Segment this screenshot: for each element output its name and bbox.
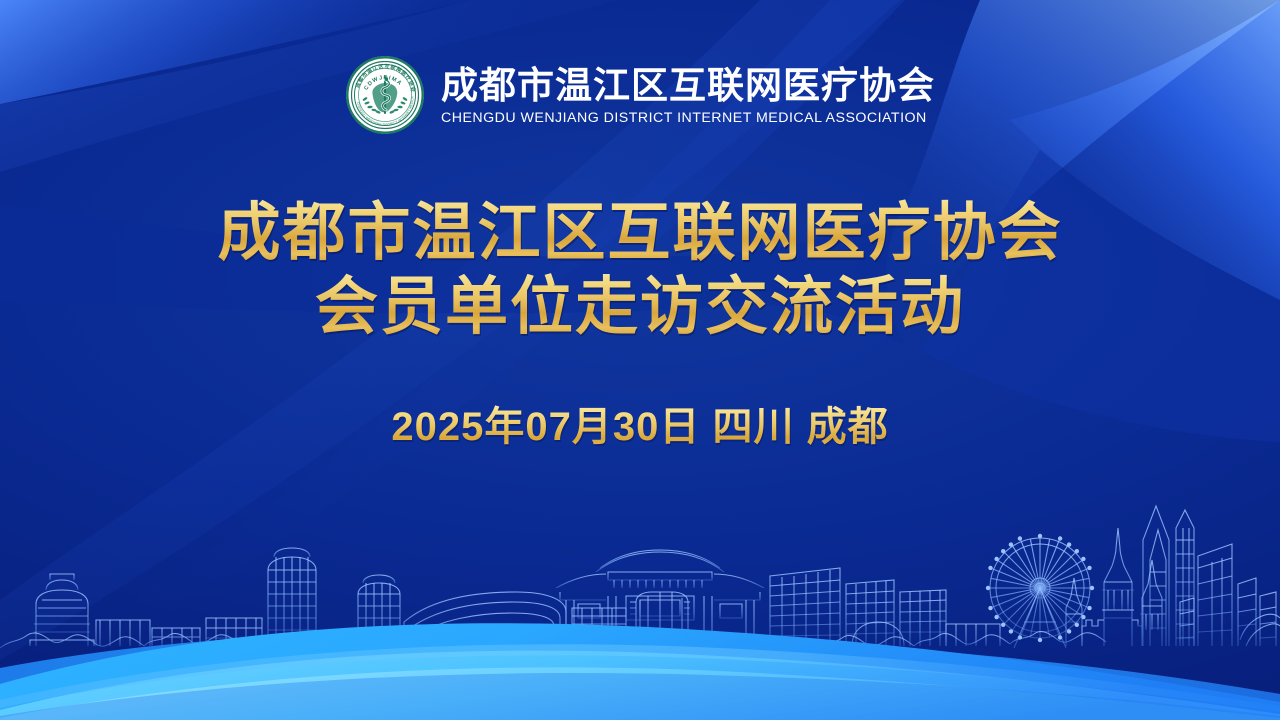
date-location-text: 2025年07月30日 四川 成都 — [391, 402, 888, 452]
org-name-en: CHENGDU WENJIANG DISTRICT INTERNET MEDIC… — [441, 110, 935, 126]
org-name-cn: 成都市温江区互联网医疗协会 — [441, 67, 935, 104]
event-date-location: 2025年07月30日 四川 成都 — [0, 402, 1280, 452]
association-emblem-icon: 成都市温江区互联网医疗协会 CDWJDIMA CHENGDU WENJIANG … — [345, 55, 425, 135]
poster-title: 成都市温江区互联网医疗协会 会员单位走访交流活动 — [0, 196, 1280, 344]
title-line-1: 成都市温江区互联网医疗协会 — [0, 196, 1280, 270]
event-poster: 成都市温江区互联网医疗协会 CDWJDIMA CHENGDU WENJIANG … — [0, 0, 1280, 720]
organization-logo-block: 成都市温江区互联网医疗协会 CDWJDIMA CHENGDU WENJIANG … — [0, 55, 1280, 135]
title-line-2: 会员单位走访交流活动 — [0, 270, 1280, 344]
